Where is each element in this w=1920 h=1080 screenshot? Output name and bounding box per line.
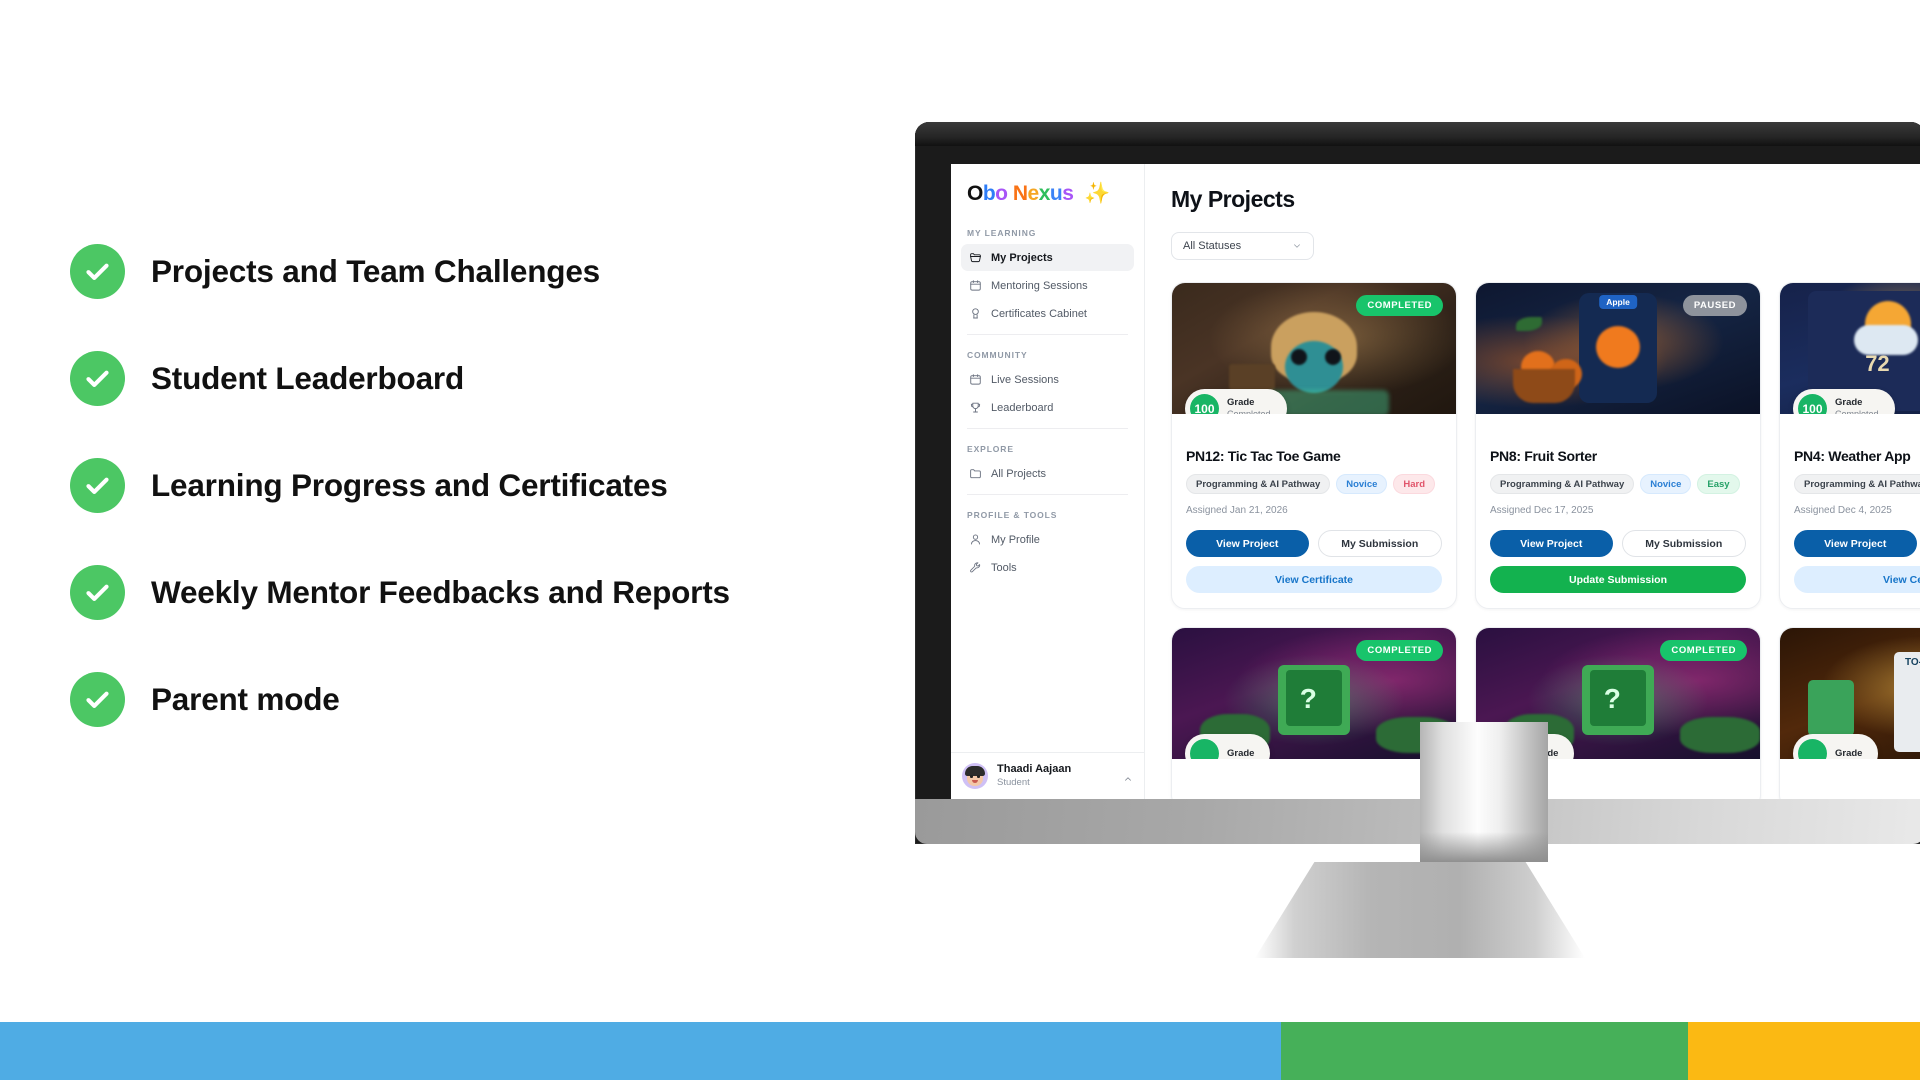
app-window: Obo Nexus ✨ MY LEARNING My Projects <box>951 164 1920 799</box>
list-item: Parent mode <box>70 646 900 753</box>
nav-section-title-profile-tools: PROFILE & TOOLS <box>961 502 1134 526</box>
sidebar-nav: MY LEARNING My Projects Mentoring Sessio… <box>951 206 1144 752</box>
tag-pathway: Programming & AI Pathway <box>1490 474 1634 494</box>
status-filter-value: All Statuses <box>1183 240 1241 252</box>
feature-label: Weekly Mentor Feedbacks and Reports <box>151 574 730 611</box>
grade-chip: Grade <box>1793 734 1878 759</box>
project-card[interactable]: ? COMPLETED Grade <box>1171 627 1457 799</box>
nav-section-title-community: COMMUNITY <box>961 342 1134 366</box>
filter-bar: All Statuses <box>1171 232 1920 260</box>
profile-name: Thaadi Aajaan <box>997 763 1114 777</box>
tag-pathway: Programming & AI Pathway <box>1794 474 1920 494</box>
tag-list: Programming & AI Pathway Novice Easy <box>1490 474 1746 494</box>
status-badge: COMPLETED <box>1660 640 1747 661</box>
monitor-mockup: Obo Nexus ✨ MY LEARNING My Projects <box>915 122 1920 844</box>
status-badge: COMPLETED <box>1356 295 1443 316</box>
folder-icon <box>969 467 982 480</box>
monitor-stand-neck <box>1420 722 1548 862</box>
sidebar-item-label: Tools <box>991 562 1017 574</box>
feature-label: Projects and Team Challenges <box>151 253 600 290</box>
feature-label: Learning Progress and Certificates <box>151 467 668 504</box>
project-card[interactable]: TO-DO LIST Grade <box>1779 627 1920 799</box>
sidebar-item-label: All Projects <box>991 468 1046 480</box>
grade-score: 100 <box>1190 394 1219 414</box>
check-icon <box>70 672 125 727</box>
grade-label: Grade <box>1835 748 1862 759</box>
status-badge: PAUSED <box>1683 295 1747 316</box>
wrench-icon <box>969 561 982 574</box>
project-card[interactable]: Apple PAUSED PN8: Fruit Sorter Programmi… <box>1475 282 1761 609</box>
page-title: My Projects <box>1171 186 1920 213</box>
grade-score: 100 <box>1798 394 1827 414</box>
grade-score <box>1190 739 1219 759</box>
sidebar-item-tools[interactable]: Tools <box>961 554 1134 581</box>
user-icon <box>969 533 982 546</box>
bottom-bar-green <box>1281 1022 1688 1080</box>
grade-chip: Grade <box>1185 734 1270 759</box>
project-thumbnail: Apple PAUSED <box>1476 283 1760 414</box>
tag-difficulty: Easy <box>1697 474 1739 494</box>
thumbnail-label-todo: TO-DO LIST <box>1905 657 1920 668</box>
sidebar-item-label: Live Sessions <box>991 374 1059 386</box>
check-icon <box>70 458 125 513</box>
calendar-icon <box>969 373 982 386</box>
feature-label: Parent mode <box>151 681 340 718</box>
view-project-button[interactable]: View Project <box>1794 530 1917 557</box>
bottom-color-bars <box>0 1022 1920 1080</box>
bottom-bar-blue <box>0 1022 1281 1080</box>
check-icon <box>70 244 125 299</box>
avatar <box>962 763 988 789</box>
sparkle-icon: ✨ <box>1079 182 1110 205</box>
assigned-date: Assigned Dec 4, 2025 <box>1794 505 1920 516</box>
project-thumbnail: 72 100 Grade Completed <box>1780 283 1920 414</box>
sidebar-item-my-projects[interactable]: My Projects <box>961 244 1134 271</box>
list-item: Student Leaderboard <box>70 325 900 432</box>
tag-list: Programming & AI Pathway Novice Hard <box>1186 474 1442 494</box>
tag-difficulty: Hard <box>1393 474 1435 494</box>
sidebar-item-label: Certificates Cabinet <box>991 308 1087 320</box>
assigned-date: Assigned Jan 21, 2026 <box>1186 505 1442 516</box>
update-submission-button[interactable]: Update Submission <box>1490 566 1746 593</box>
sidebar-item-label: My Profile <box>991 534 1040 546</box>
thumbnail-label-apple: Apple <box>1599 295 1637 309</box>
monitor-top-sheen <box>915 122 1920 146</box>
project-card[interactable]: COMPLETED 100 Grade Completed PN12: Tic … <box>1171 282 1457 609</box>
nav-divider <box>967 494 1128 495</box>
view-project-button[interactable]: View Project <box>1186 530 1309 557</box>
trophy-icon <box>969 401 982 414</box>
sidebar-item-certificates-cabinet[interactable]: Certificates Cabinet <box>961 300 1134 327</box>
feature-list: Projects and Team Challenges Student Lea… <box>70 218 900 753</box>
sidebar-item-live-sessions[interactable]: Live Sessions <box>961 366 1134 393</box>
project-card[interactable]: 72 100 Grade Completed <box>1779 282 1920 609</box>
view-certificate-button[interactable]: View Certificate <box>1186 566 1442 593</box>
project-title: PN8: Fruit Sorter <box>1490 448 1746 464</box>
sidebar-item-leaderboard[interactable]: Leaderboard <box>961 394 1134 421</box>
sidebar-item-all-projects[interactable]: All Projects <box>961 460 1134 487</box>
project-thumbnail: TO-DO LIST Grade <box>1780 628 1920 759</box>
grade-label: Grade <box>1227 397 1271 408</box>
grade-sub: Completed <box>1835 409 1879 414</box>
list-item: Weekly Mentor Feedbacks and Reports <box>70 539 900 646</box>
tag-list: Programming & AI Pathway <box>1794 474 1920 494</box>
check-icon <box>70 351 125 406</box>
nav-divider <box>967 334 1128 335</box>
tag-pathway: Programming & AI Pathway <box>1186 474 1330 494</box>
monitor-screen: Obo Nexus ✨ MY LEARNING My Projects <box>951 164 1920 799</box>
nav-divider <box>967 428 1128 429</box>
monitor-chin <box>915 799 1920 844</box>
nav-section-title-my-learning: MY LEARNING <box>961 220 1134 244</box>
grade-label: Grade <box>1227 748 1254 759</box>
tag-level: Novice <box>1336 474 1387 494</box>
award-icon <box>969 307 982 320</box>
feature-label: Student Leaderboard <box>151 360 464 397</box>
calendar-icon <box>969 279 982 292</box>
main-content: My Projects All Statuses <box>1145 164 1920 799</box>
app-logo[interactable]: Obo Nexus ✨ <box>951 164 1144 206</box>
thumbnail-temperature: 72 <box>1865 351 1889 377</box>
sidebar-item-my-profile[interactable]: My Profile <box>961 526 1134 553</box>
sidebar-item-label: My Projects <box>991 252 1053 264</box>
project-thumbnail: ? COMPLETED Grade <box>1172 628 1456 759</box>
monitor-stand-foot <box>1255 862 1585 958</box>
sidebar-item-label: Leaderboard <box>991 402 1053 414</box>
grade-score <box>1798 739 1827 759</box>
grade-label: Grade <box>1835 397 1879 408</box>
check-icon <box>70 565 125 620</box>
profile-role: Student <box>997 777 1114 789</box>
status-filter-select[interactable]: All Statuses <box>1171 232 1314 260</box>
user-profile-bar[interactable]: Thaadi Aajaan Student <box>951 752 1144 799</box>
project-title: PN4: Weather App <box>1794 448 1920 464</box>
tag-level: Novice <box>1640 474 1691 494</box>
bottom-bar-yellow <box>1688 1022 1920 1080</box>
project-thumbnail: COMPLETED 100 Grade Completed <box>1172 283 1456 414</box>
grade-sub: Completed <box>1227 409 1271 414</box>
view-certificate-button[interactable]: View Certificate <box>1794 566 1920 593</box>
list-item: Learning Progress and Certificates <box>70 432 900 539</box>
chevron-down-icon <box>1292 241 1302 251</box>
view-project-button[interactable]: View Project <box>1490 530 1613 557</box>
chevron-up-icon[interactable] <box>1123 771 1133 781</box>
sidebar: Obo Nexus ✨ MY LEARNING My Projects <box>951 164 1145 799</box>
my-submission-button[interactable]: My Submission <box>1622 530 1747 557</box>
list-item: Projects and Team Challenges <box>70 218 900 325</box>
nav-section-title-explore: EXPLORE <box>961 436 1134 460</box>
assigned-date: Assigned Dec 17, 2025 <box>1490 505 1746 516</box>
grade-chip: 100 Grade Completed <box>1185 389 1287 414</box>
status-badge: COMPLETED <box>1356 640 1443 661</box>
folder-open-icon <box>969 251 982 264</box>
my-submission-button[interactable]: My Submission <box>1318 530 1443 557</box>
sidebar-item-label: Mentoring Sessions <box>991 280 1088 292</box>
sidebar-item-mentoring-sessions[interactable]: Mentoring Sessions <box>961 272 1134 299</box>
project-title: PN12: Tic Tac Toe Game <box>1186 448 1442 464</box>
grade-chip: 100 Grade Completed <box>1793 389 1895 414</box>
